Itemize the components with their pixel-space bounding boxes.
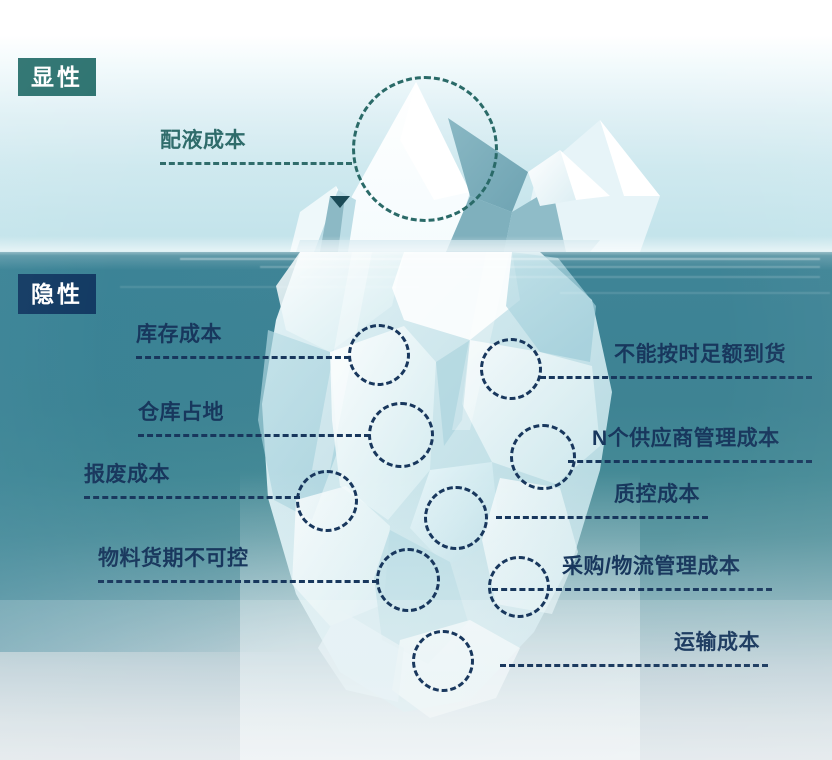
iceberg-infographic: 显性 隐性 配液成本 库存成本 仓库占地 报废成本 物料货期不可控 不能按时足额…	[0, 0, 832, 760]
label-hidden-cost-right-0: 不能按时足额到货	[614, 344, 786, 365]
label-hidden-cost-right-2: 质控成本	[614, 484, 700, 505]
label-hidden-cost-left-2: 报废成本	[84, 464, 170, 485]
leader-hidden-cost-right-4	[500, 664, 768, 667]
highlight-circle-hidden-2	[296, 470, 358, 532]
leader-hidden-cost-left-2	[84, 496, 300, 499]
highlight-circle-hidden-3	[376, 548, 440, 612]
leader-hidden-cost-right-0	[540, 376, 812, 379]
highlight-circle-hidden-7	[488, 556, 550, 618]
label-hidden-cost-right-3: 采购/物流管理成本	[562, 556, 740, 577]
label-hidden-cost-right-1: N个供应商管理成本	[592, 428, 780, 449]
leader-hidden-cost-left-0	[136, 356, 350, 359]
leader-visible-cost-0	[160, 162, 352, 165]
sea-background	[0, 252, 832, 760]
leader-hidden-cost-left-3	[98, 580, 378, 583]
label-hidden-cost-left-3: 物料货期不可控	[98, 548, 249, 569]
label-visible-cost-0: 配液成本	[160, 130, 246, 151]
highlight-circle-hidden-0	[348, 324, 410, 386]
leader-hidden-cost-right-1	[568, 460, 812, 463]
highlight-circle-hidden-1	[368, 402, 434, 468]
highlight-circle-hidden-6	[424, 486, 488, 550]
label-hidden-cost-left-1: 仓库占地	[138, 402, 224, 423]
highlight-circle-hidden-4	[480, 338, 542, 400]
badge-visible-cost: 显性	[18, 58, 96, 96]
leader-hidden-cost-left-1	[138, 434, 370, 437]
leader-hidden-cost-right-2	[496, 516, 708, 519]
label-hidden-cost-left-0: 库存成本	[136, 324, 222, 345]
badge-hidden-cost: 隐性	[18, 274, 96, 314]
highlight-circle-visible-0	[352, 76, 498, 222]
highlight-circle-hidden-8	[412, 630, 474, 692]
highlight-circle-hidden-5	[510, 424, 576, 490]
label-hidden-cost-right-4: 运输成本	[674, 632, 760, 653]
